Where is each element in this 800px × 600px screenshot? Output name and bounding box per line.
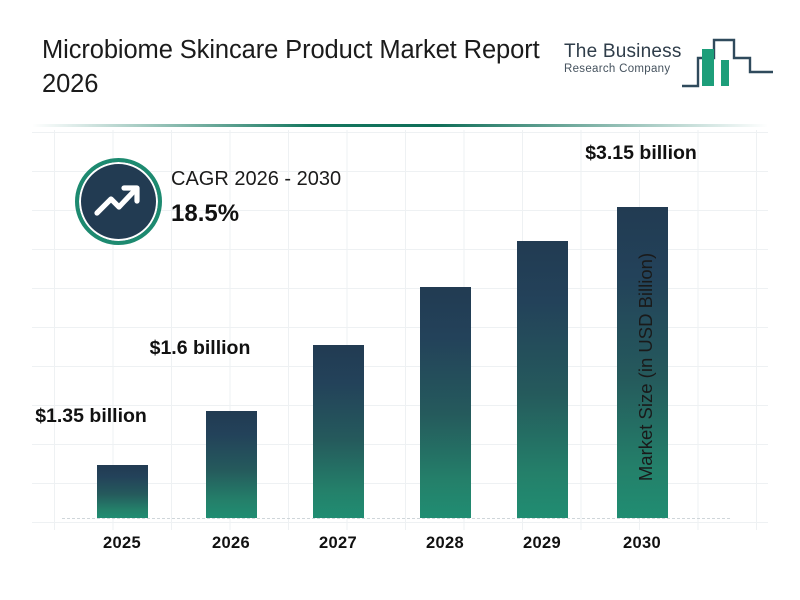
value-label-2030-amount: $3.15 billion — [585, 142, 697, 164]
cagr-period-label: CAGR 2026 - 2030 — [171, 168, 341, 191]
header-divider — [32, 124, 768, 127]
bar-2026[interactable] — [206, 411, 257, 518]
value-label-2026-amount: $1.6 billion — [150, 337, 251, 359]
y-axis-label: Market Size (in USD Billion) — [633, 222, 659, 512]
logo-line-2: Research Company — [564, 63, 696, 77]
cagr-value-label: 18.5% — [171, 200, 239, 228]
chart-header: Microbiome Skincare Product Market Repor… — [0, 0, 800, 126]
cagr-badge-circle — [75, 158, 162, 245]
x-tick-2025: 2025 — [62, 534, 182, 553]
value-label-2025-amount: $1.35 billion — [35, 405, 147, 427]
logo-line-1: The Business — [564, 42, 696, 62]
x-tick-2030: 2030 — [582, 534, 702, 553]
axis-baseline — [62, 518, 730, 519]
bar-2028[interactable] — [420, 287, 471, 518]
x-tick-2026: 2026 — [171, 534, 291, 553]
logo-wordmark: The Business Research Company — [564, 42, 696, 77]
trending-up-icon — [94, 182, 142, 222]
value-label-2025: $1.35 billion — [31, 404, 151, 429]
company-logo: The Business Research Company — [560, 30, 775, 102]
chart-canvas: Microbiome Skincare Product Market Repor… — [0, 0, 800, 600]
bar-2029[interactable] — [517, 241, 568, 518]
bar-2025[interactable] — [97, 465, 148, 518]
page-title: Microbiome Skincare Product Market Repor… — [42, 34, 547, 101]
x-tick-2027: 2027 — [278, 534, 398, 553]
value-label-2030: $3.15 billion — [581, 141, 701, 166]
cagr-callout: CAGR 2026 - 2030 18.5% — [75, 152, 405, 244]
value-label-2026: $1.6 billion — [140, 336, 260, 361]
bar-2027[interactable] — [313, 345, 364, 518]
bar-chart-logo-mark — [680, 32, 775, 94]
